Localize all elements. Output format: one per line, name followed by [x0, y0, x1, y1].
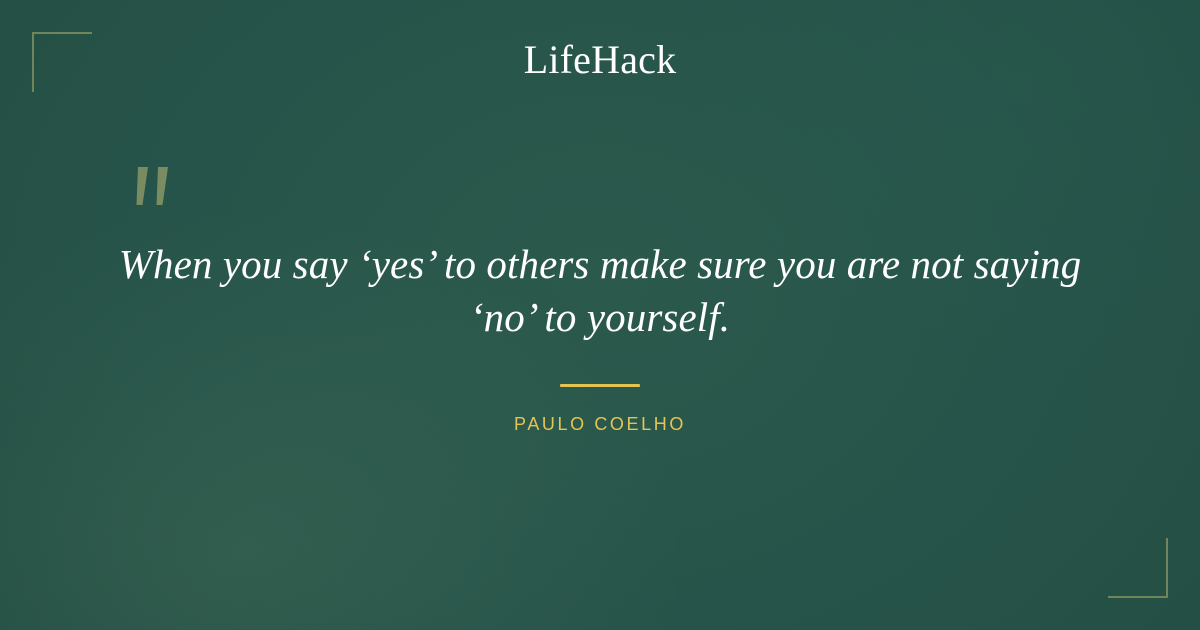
quote-block: When you say ‘yes’ to others make sure y…	[110, 238, 1090, 345]
quote-author: Paulo Coelho	[0, 414, 1200, 435]
quote-text: When you say ‘yes’ to others make sure y…	[110, 238, 1090, 345]
quote-card: LifeHack When you say ‘yes’ to others ma…	[0, 0, 1200, 630]
corner-bracket-bottom-right-icon	[1108, 538, 1168, 598]
author-divider	[560, 384, 640, 387]
double-quote-icon	[128, 165, 184, 217]
brand-logo: LifeHack	[0, 40, 1200, 80]
